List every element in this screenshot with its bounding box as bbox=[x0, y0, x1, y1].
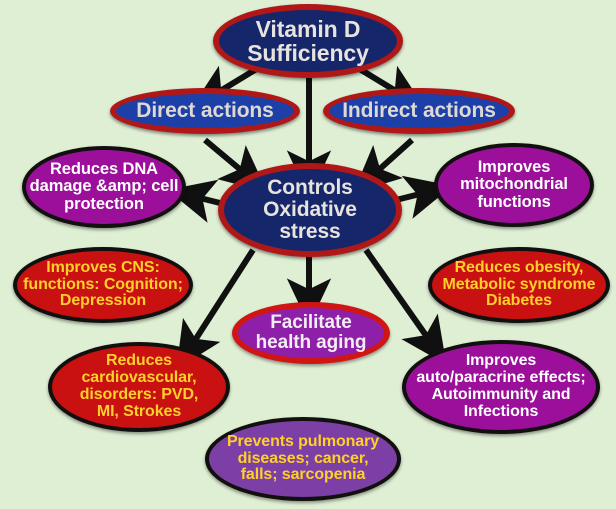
node-label-line: Prevents pulmonary bbox=[227, 434, 379, 451]
node-label-line: falls; sarcopenia bbox=[227, 467, 379, 484]
node-direct-actions[interactable]: Direct actions bbox=[110, 88, 300, 134]
node-improves-auto-paracrine-effects[interactable]: Improves auto/paracrine effects; Autoimm… bbox=[402, 340, 600, 434]
node-facilitate-health-aging[interactable]: Facilitate health aging bbox=[232, 302, 390, 364]
node-label-line: Controls bbox=[263, 177, 357, 199]
node-label-line: MI, Strokes bbox=[80, 404, 199, 421]
node-label-line: Metabolic syndrome bbox=[443, 277, 596, 294]
node-label-line: Infections bbox=[416, 404, 585, 421]
edge-indirect-controls bbox=[372, 140, 412, 176]
node-label-line: stress bbox=[263, 221, 357, 243]
node-improves-cns-functions[interactable]: Improves CNS: functions: Cognition; Depr… bbox=[13, 247, 193, 323]
node-prevents-pulmonary-diseases[interactable]: Prevents pulmonary diseases; cancer, fal… bbox=[205, 417, 401, 501]
node-label-line: mitochondrial bbox=[460, 176, 568, 193]
node-indirect-actions[interactable]: Indirect actions bbox=[323, 88, 515, 134]
node-label-line: Reduces obesity, bbox=[443, 260, 596, 277]
node-label-line: functions: Cognition; bbox=[23, 277, 183, 294]
node-improves-mitochondrial-functions[interactable]: Improves mitochondrial functions bbox=[434, 143, 594, 227]
node-reduces-obesity-metabolic-syndrome[interactable]: Reduces obesity, Metabolic syndrome Diab… bbox=[428, 247, 610, 323]
node-label-line: protection bbox=[30, 196, 179, 213]
node-label-line: Oxidative bbox=[263, 199, 357, 221]
node-label-line: health aging bbox=[256, 333, 367, 353]
node-label-line: Facilitate bbox=[256, 313, 367, 333]
node-controls-oxidative-stress[interactable]: Controls Oxidative stress bbox=[218, 163, 402, 257]
node-label-line: functions bbox=[460, 194, 568, 211]
node-label-line: Reduces DNA bbox=[30, 161, 179, 178]
node-reduces-cardiovascular-disorders[interactable]: Reduces cardiovascular, disorders: PVD, … bbox=[48, 342, 230, 432]
node-label-line: Diabetes bbox=[443, 293, 596, 310]
edge-controls-mito bbox=[396, 192, 428, 200]
node-label-line: Vitamin D bbox=[247, 17, 369, 41]
edge-direct-controls bbox=[205, 140, 248, 176]
node-label-line: Direct actions bbox=[136, 100, 273, 122]
node-label-line: auto/paracrine effects; bbox=[416, 370, 585, 387]
diagram-canvas: Vitamin D Sufficiency Direct actions Ind… bbox=[0, 0, 616, 509]
node-vitamin-d-sufficiency[interactable]: Vitamin D Sufficiency bbox=[213, 4, 403, 78]
node-label-line: disorders: PVD, bbox=[80, 387, 199, 404]
node-label-line: Sufficiency bbox=[247, 41, 369, 65]
node-label-line: Indirect actions bbox=[342, 100, 496, 122]
node-label-line: Reduces bbox=[80, 353, 199, 370]
node-label-line: Autoimmunity and bbox=[416, 387, 585, 404]
node-label-line: Improves bbox=[460, 159, 568, 176]
node-label-line: Improves bbox=[416, 353, 585, 370]
node-label-line: cardiovascular, bbox=[80, 370, 199, 387]
node-label-line: Improves CNS: bbox=[23, 260, 183, 277]
node-label-line: diseases; cancer, bbox=[227, 451, 379, 468]
node-label-line: damage &amp; cell bbox=[30, 178, 179, 195]
node-label-line: Depression bbox=[23, 293, 183, 310]
node-reduces-dna-damage[interactable]: Reduces DNA damage &amp; cell protection bbox=[22, 146, 186, 228]
